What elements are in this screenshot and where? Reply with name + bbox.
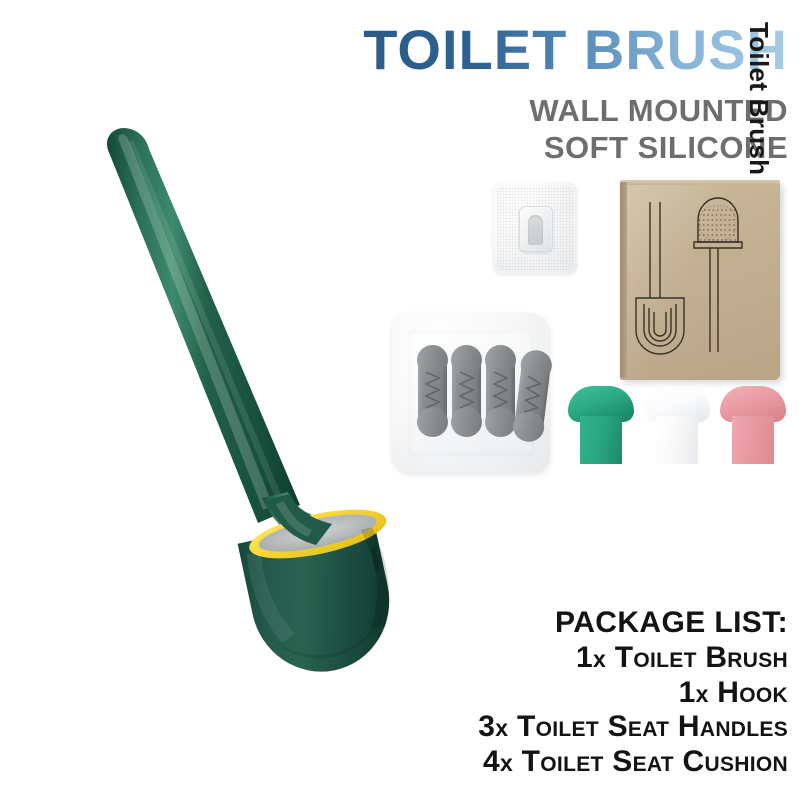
handle-stem xyxy=(580,416,622,464)
item-name: Toilet Seat Handles xyxy=(517,710,788,743)
item-quantity: 1 xyxy=(679,676,696,709)
product-box-image: Toilet Brush xyxy=(620,180,780,380)
item-quantity: 4 xyxy=(483,745,500,778)
item-name: Toilet Brush xyxy=(615,641,788,674)
toilet-seat-handle-green xyxy=(568,386,634,464)
item-multiplier: x xyxy=(495,715,508,741)
package-list-item: 3x Toilet Seat Handles xyxy=(478,711,788,743)
product-listing-image: TOILET BRUSH WALL MOUNTED SOFT SILICONE xyxy=(0,0,800,800)
cushion-texture xyxy=(491,370,510,412)
package-list-item: 1x Toilet Brush xyxy=(478,642,788,674)
box-product-label: Toilet Brush xyxy=(743,22,774,194)
seat-cushion xyxy=(452,348,481,434)
package-list-item: 1x Hook xyxy=(478,677,788,709)
item-name: Hook xyxy=(717,676,788,709)
package-list-item: 4x Toilet Seat Cushion xyxy=(478,746,788,778)
item-quantity: 3 xyxy=(478,710,495,743)
seat-cushion-bag-image xyxy=(392,313,550,473)
item-multiplier: x xyxy=(500,750,513,776)
item-multiplier: x xyxy=(593,646,606,672)
item-quantity: 1 xyxy=(576,641,593,674)
page-title: TOILET BRUSH xyxy=(363,22,788,78)
hook-keyhole-icon xyxy=(528,215,543,245)
wall-hook-image xyxy=(493,182,577,274)
cushion-texture xyxy=(423,370,442,412)
hook-clip xyxy=(519,206,553,252)
handle-stem xyxy=(732,416,774,464)
package-list: PACKAGE LIST: 1x Toilet Brush 1x Hook 3x… xyxy=(478,607,788,778)
toilet-seat-handle-white xyxy=(644,386,710,464)
cushion-texture xyxy=(457,370,476,412)
toilet-seat-handle-pink xyxy=(720,386,786,464)
seat-cushion xyxy=(418,348,447,434)
seat-handles-image xyxy=(568,386,786,464)
seat-cushion xyxy=(486,348,515,434)
package-list-title: PACKAGE LIST: xyxy=(478,607,788,639)
cushion-texture xyxy=(521,374,545,418)
box-line-art xyxy=(620,180,780,380)
item-name: Toilet Seat Cushion xyxy=(522,745,788,778)
item-multiplier: x xyxy=(696,681,709,707)
handle-stem xyxy=(656,416,698,464)
